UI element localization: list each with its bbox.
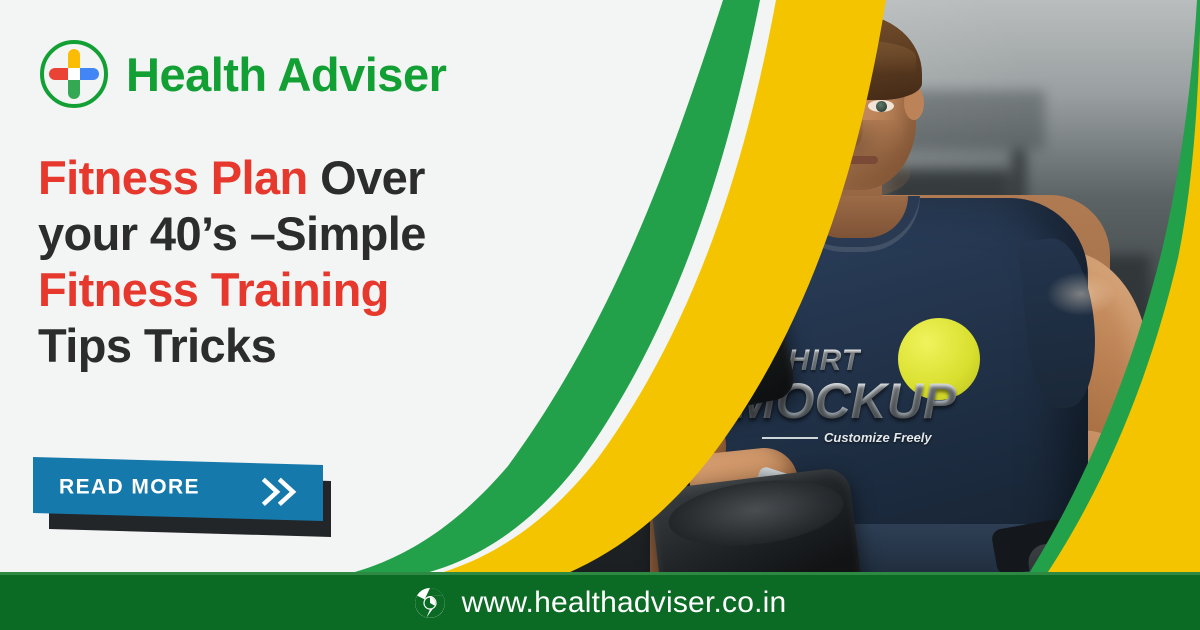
headline-part-3: your 40’s –Simple (38, 206, 558, 262)
read-more-button[interactable]: READ MORE (33, 457, 323, 521)
chrome-browser-icon (414, 587, 446, 619)
headline-part-4: Fitness Training (38, 262, 558, 318)
shirt-print-rule (762, 437, 818, 439)
double-chevron-right-icon (259, 477, 301, 507)
brand-logo[interactable]: Health Adviser (38, 38, 446, 110)
promo-banner: T-SHIRT MOCKUP Customize Freely (0, 0, 1200, 630)
website-url[interactable]: www.healthadviser.co.in (462, 586, 787, 620)
page-title: Fitness Plan Over your 40’s –Simple Fitn… (38, 150, 558, 374)
read-more-button-wrapper[interactable]: READ MORE (33, 461, 333, 541)
headline-part-1: Fitness Plan (38, 151, 320, 204)
athlete-figure: T-SHIRT MOCKUP Customize Freely (560, 0, 1200, 578)
headline-part-2: Over (320, 151, 425, 204)
brand-name: Health Adviser (126, 51, 446, 98)
footer-bar: www.healthadviser.co.in (0, 572, 1200, 630)
headline-part-5: Tips Tricks (38, 318, 558, 374)
hero-photo: T-SHIRT MOCKUP Customize Freely (560, 0, 1200, 578)
shirt-print-line3: Customize Freely (824, 430, 932, 445)
read-more-label: READ MORE (59, 476, 200, 500)
medical-cross-circle-icon (38, 38, 110, 110)
